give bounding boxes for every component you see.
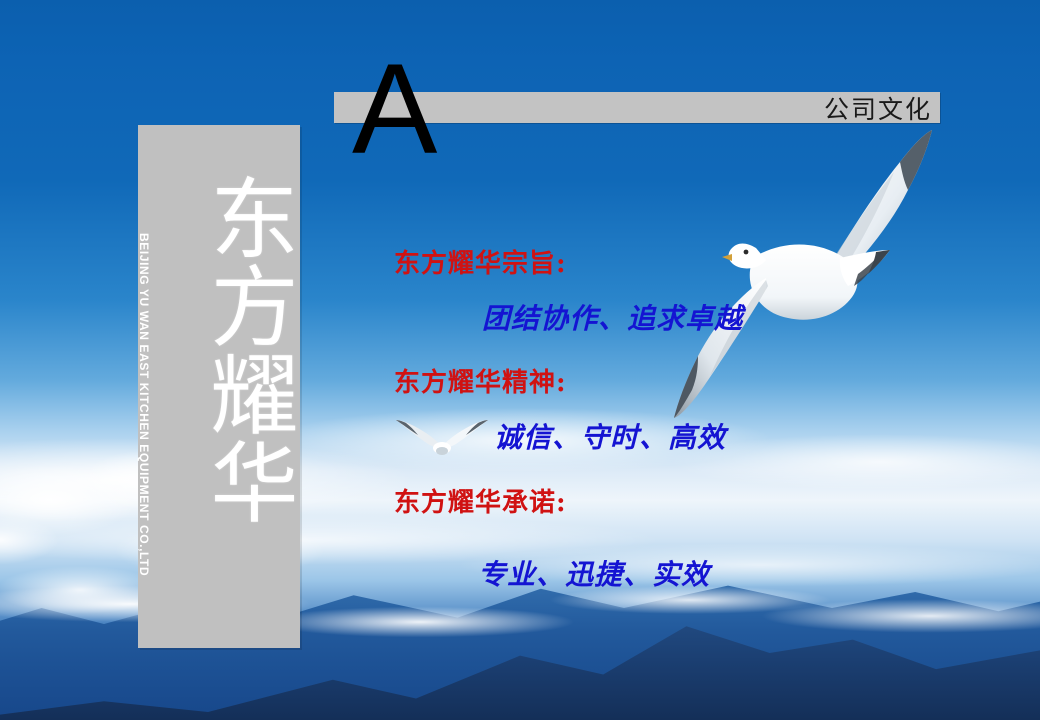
block-heading: 东方耀华承诺: [394,482,710,519]
slide-canvas: BEIJING YU WAN EAST KITCHEN EQUIPMENT CO… [0,0,1040,720]
culture-block-promise: 东方耀华承诺: 专业、迅捷、实效 [394,482,710,593]
block-heading: 东方耀华精神: [394,362,726,399]
culture-block-purpose: 东方耀华宗旨: 团结协作、追求卓越 [394,243,743,337]
culture-content: 东方耀华宗旨: 团结协作、追求卓越 东方耀华精神: 诚信、守时、高效 东方耀华承… [0,0,1040,720]
culture-block-spirit: 东方耀华精神: 诚信、守时、高效 [394,362,726,456]
block-body: 团结协作、追求卓越 [482,297,743,337]
block-body: 诚信、守时、高效 [494,416,726,456]
block-heading: 东方耀华宗旨: [394,243,743,280]
block-body: 专业、迅捷、实效 [478,553,710,593]
